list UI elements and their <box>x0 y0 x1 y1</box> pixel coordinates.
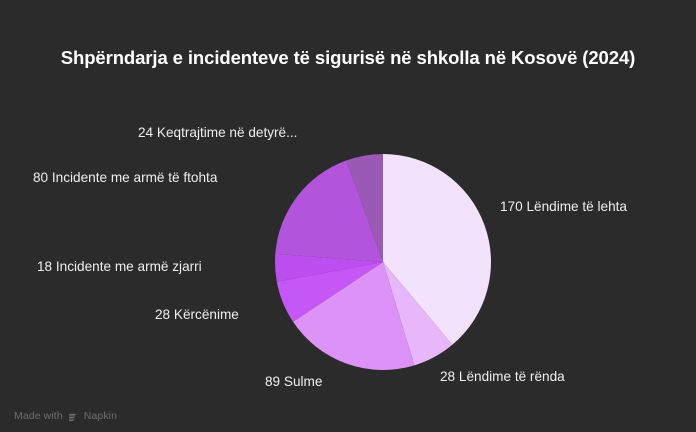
watermark: Made with Napkin <box>14 410 117 422</box>
pie-chart-figure: Shpërndarja e incidenteve të sigurisë në… <box>0 0 696 432</box>
watermark-prefix: Made with <box>14 410 63 422</box>
pie-slices-group <box>275 154 491 370</box>
pie-slice-label-kercenime: 28 Kërcënime <box>155 306 239 323</box>
pie-slice-label-lendime-te-renda: 28 Lëndime të rënda <box>440 368 565 385</box>
napkin-logo-icon <box>68 412 79 423</box>
pie-slice-label-sulme: 89 Sulme <box>265 373 322 390</box>
watermark-brand: Napkin <box>84 410 117 422</box>
pie-slice-label-keqtrajtime-ne-detyre: 24 Keqtrajtime në detyrë... <box>138 124 297 141</box>
pie-slice-label-lendime-te-lehta: 170 Lëndime të lehta <box>500 198 627 215</box>
pie-chart-area <box>275 154 491 370</box>
chart-title: Shpërndarja e incidenteve të sigurisë në… <box>60 44 636 71</box>
pie-slice-label-incidente-me-arme-te-ftohta: 80 Incidente me armë të ftohta <box>33 169 217 186</box>
pie-slice-label-incidente-me-arme-zjarri: 18 Incidente me armë zjarri <box>37 258 202 275</box>
